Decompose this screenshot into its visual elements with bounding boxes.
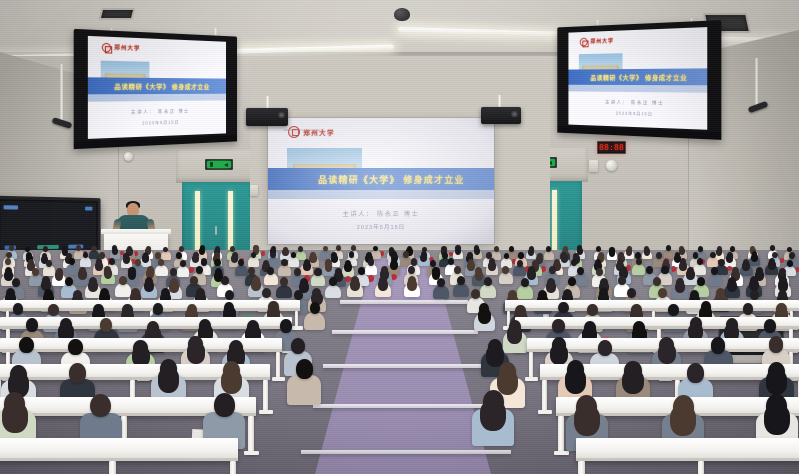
audience-member-hair: [550, 345, 568, 365]
audience-member-head: [668, 304, 679, 316]
audience-member-torso: [320, 250, 330, 259]
slide-presenter: 主讲人： 陈永正 博士: [88, 108, 226, 117]
audience-member-hair: [344, 263, 352, 272]
arrow-right-icon: [224, 163, 228, 167]
desk-front-edge: [0, 458, 238, 461]
projector-mount-left: [266, 96, 269, 108]
camera-pole-right: [755, 58, 758, 106]
audience-member-torso: [480, 284, 496, 298]
chair-back: [368, 275, 374, 282]
university-logo: 郑州大学: [580, 37, 614, 47]
monitor-pole-left: [60, 64, 63, 120]
audience-member-head: [69, 363, 86, 383]
aisle-step: [332, 330, 478, 334]
audience-member-hair: [644, 248, 650, 255]
audience-member-head: [577, 267, 584, 275]
desk-leg: [558, 416, 564, 454]
audience-member-hair: [78, 270, 87, 280]
audience-member-hair: [670, 406, 696, 436]
audience-member-head: [314, 268, 321, 276]
audience-member-hair: [4, 271, 13, 281]
podium-top-surface: [101, 229, 171, 234]
audience-member-head: [627, 288, 636, 298]
audience-member-torso: [177, 266, 190, 277]
projector-lens-icon: [278, 112, 285, 118]
audience-member-head: [750, 290, 759, 300]
audience-member-head: [214, 393, 235, 417]
audience-member-hair: [390, 261, 398, 270]
audience-member-hair: [475, 271, 484, 281]
desk-foot: [538, 410, 552, 414]
audience-member-hair: [626, 248, 632, 255]
audience-member-hair: [187, 343, 205, 363]
desk-foot: [554, 451, 569, 455]
audience-member-head: [135, 259, 141, 266]
slide-date: 2023年5月15日: [268, 223, 494, 231]
audience-member-hair: [727, 281, 737, 292]
desk-leg: [542, 380, 547, 413]
audience-member-head: [618, 276, 626, 285]
audience-member-head: [280, 319, 292, 333]
audience-member-head: [518, 252, 524, 258]
audience-member-head: [281, 259, 287, 266]
right-ceiling-monitor[interactable]: 郑州大学 品读精研《大学》 修身成才立业 主讲人： 陈永正 博士 2023年5月…: [557, 20, 721, 140]
audience-member-head: [403, 251, 409, 257]
audience-member-torso: [365, 264, 378, 275]
slide-title-band: 品读精研《大学》 修身成才立业: [568, 68, 707, 85]
audience-member-hair: [478, 309, 491, 324]
audience-member-hair: [751, 254, 758, 262]
audience-member-head: [155, 252, 161, 258]
audience-member-hair: [123, 256, 130, 264]
audience-member-head: [153, 303, 164, 315]
slide-accent-band: [568, 85, 707, 93]
audience-member-head: [291, 252, 297, 258]
desk-leg: [248, 416, 254, 454]
audience-member-torso: [311, 274, 325, 286]
audience-member-hair: [407, 280, 417, 291]
audience-member-torso: [276, 285, 292, 299]
audience-member-head: [170, 268, 177, 276]
audience-member-head: [368, 258, 374, 265]
audience-member-head: [710, 252, 716, 258]
audience-member-head: [267, 267, 274, 275]
audience-member-head: [587, 304, 598, 316]
audience-member-head: [598, 340, 612, 356]
audience-member-hair: [144, 281, 154, 292]
audience-member-head: [100, 318, 112, 332]
audience-member-head: [568, 277, 576, 286]
lecture-hall-photo: 88:88 郑州大学 ZHENGZHOU UNIVERSITY: [0, 0, 799, 474]
audience-member-head: [83, 252, 89, 258]
audience-member-hair: [686, 270, 695, 280]
audience-member-head: [6, 252, 12, 258]
audience-member-head: [214, 259, 220, 266]
audience-member-head: [457, 276, 465, 285]
audience-member-hair: [221, 370, 242, 394]
audience-member-hair: [480, 401, 506, 431]
university-logo: 郑州大学: [102, 43, 141, 54]
audience-member-head: [32, 268, 39, 276]
audience-member-head: [262, 288, 271, 298]
audience-member-head: [448, 258, 454, 265]
logo-text: 郑州大学: [114, 44, 140, 53]
audience-member-head: [310, 302, 321, 314]
audience-member-hair: [309, 255, 316, 263]
door-handle[interactable]: [215, 226, 217, 235]
left-monitor-screen: 郑州大学 品读精研《大学》 修身成才立业 主讲人： 陈永正 博士 2023年5月…: [88, 36, 226, 139]
audience-member-head: [65, 277, 73, 286]
audience-member-head: [764, 319, 776, 333]
audience-member-head: [789, 252, 795, 258]
desk-front-edge: [576, 458, 799, 461]
audience-member-torso: [693, 264, 706, 275]
audience-member-hair: [95, 262, 103, 271]
ceiling-projector-left: [246, 108, 288, 126]
audience-member-head: [502, 266, 509, 274]
audience-member-head: [294, 290, 303, 300]
desk-leg: [276, 352, 280, 380]
audience-member-torso: [632, 264, 645, 275]
audience-member-torso: [708, 274, 722, 286]
audience-member-hair: [561, 255, 568, 263]
air-vent-left: [99, 8, 136, 20]
desk-leg: [578, 461, 585, 474]
chair-back: [261, 251, 265, 256]
audience-member-head: [201, 258, 207, 265]
audience-member-head: [176, 252, 182, 258]
audience-member-hair: [658, 344, 676, 364]
audience-member-hair: [331, 255, 338, 263]
audience-member-torso: [155, 265, 168, 276]
audience-member-head: [552, 319, 564, 333]
chair-back: [671, 266, 676, 272]
audience-member-hair: [112, 248, 118, 255]
chair-back: [391, 274, 397, 281]
audience-member-hair: [158, 368, 179, 392]
audience-member-head: [298, 246, 303, 252]
audience-member-head: [656, 252, 662, 258]
audience-member-head: [558, 302, 569, 314]
audience-member-hair: [2, 403, 28, 433]
audience-member-torso: [304, 312, 325, 330]
audience-member-head: [270, 252, 276, 258]
clock-digits: 88:88: [599, 144, 624, 152]
audience-member-head: [408, 266, 415, 274]
slide-presenter: 主讲人： 陈永正 博士: [268, 209, 494, 218]
audience-member-hair: [474, 248, 480, 255]
audience-member-torso: [513, 265, 526, 276]
audience-member-head: [442, 252, 448, 258]
audience-member-hair: [325, 263, 333, 272]
aisle-step: [340, 300, 468, 304]
audience-member-torso: [325, 285, 341, 299]
audience-member-hair: [609, 249, 615, 256]
slide-title: 品读精研《大学》 修身成才立业: [114, 81, 226, 90]
audience-member-hair: [507, 326, 522, 343]
audience-member-torso: [517, 285, 533, 299]
ceiling-speaker-right: [606, 160, 617, 171]
left-ceiling-monitor[interactable]: 郑州大学 品读精研《大学》 修身成才立业 主讲人： 陈永正 博士 2023年5月…: [74, 29, 237, 149]
audience-member-torso: [235, 265, 248, 276]
audience-member-head: [19, 337, 33, 353]
audience-member-torso: [115, 283, 131, 297]
student-desk[interactable]: [505, 300, 799, 311]
desk-leg: [263, 380, 268, 413]
audience-member-head: [349, 251, 355, 257]
audience-member-head: [787, 260, 793, 267]
slide-title: 品读精研《大学》 修身成才立业: [590, 72, 707, 82]
audience-member-head: [521, 278, 529, 287]
audience-member-head: [697, 277, 705, 286]
audience-member-head: [291, 338, 305, 354]
audience-member-head: [280, 277, 288, 286]
audience-member-torso: [433, 285, 449, 299]
slide-accent-band: [88, 94, 226, 102]
audience-member-head: [119, 276, 127, 285]
audience-member-head: [658, 288, 667, 298]
desk-leg: [698, 461, 705, 474]
door-glass-panel-right: [552, 190, 557, 257]
audience-member-hair: [764, 405, 790, 435]
audience-member-head: [661, 266, 668, 274]
audience-member-hair: [282, 249, 288, 256]
audience-member-hair: [488, 262, 496, 271]
desk-leg: [230, 461, 237, 474]
wall-speaker-left: [124, 152, 133, 161]
audience-member-head: [296, 359, 313, 379]
audience-member-head: [26, 318, 38, 332]
audience-member-hair: [142, 254, 149, 262]
audience-member-head: [653, 277, 661, 286]
audience-member-torso: [66, 264, 79, 275]
audience-member-head: [196, 266, 203, 274]
desk-foot: [272, 377, 285, 381]
audience-member-head: [454, 266, 461, 274]
door-glass-panel-left: [195, 191, 200, 257]
smartboard-screen: [0, 201, 96, 255]
audience-member-head: [68, 339, 82, 355]
projector-lens-icon: [511, 111, 518, 117]
audience-member-hair: [565, 369, 586, 393]
desk-foot: [244, 451, 259, 455]
logo-text: 郑州大学: [590, 37, 614, 46]
audience-member-hair: [766, 370, 787, 394]
audience-member-head: [636, 258, 642, 265]
slide-accent-band: [268, 190, 494, 199]
audience-member-head: [411, 258, 417, 265]
audience-member-torso: [248, 257, 259, 267]
audience-member-head: [109, 258, 115, 265]
audience-member-head: [46, 260, 52, 267]
student-desk[interactable]: [0, 438, 238, 461]
right-monitor-screen: 郑州大学 品读精研《大学》 修身成才立业 主讲人： 陈永正 博士 2023年5月…: [568, 27, 707, 130]
audience-member-head: [743, 303, 754, 315]
audience-member-head: [718, 259, 724, 266]
mirrored-slide-right: 郑州大学 品读精研《大学》 修身成才立业 主讲人： 陈永正 博士 2023年5月…: [568, 27, 707, 130]
audience-member-head: [494, 246, 499, 252]
audience-member-head: [517, 260, 523, 267]
slide-title: 品读精研《大学》 修身成才立业: [318, 173, 494, 186]
audience-member-head: [596, 268, 603, 276]
audience-member-torso: [278, 265, 291, 276]
audience-member-torso: [287, 375, 322, 405]
mirrored-slide-left: 郑州大学 品读精研《大学》 修身成才立业 主讲人： 陈永正 博士 2023年5月…: [88, 36, 226, 139]
slide-date: 2023年5月15日: [88, 118, 226, 128]
audience-member-head: [769, 336, 783, 352]
audience-member-torso: [453, 283, 469, 297]
presentation-slide: 郑州大学 ZHENGZHOU UNIVERSITY 品读精研《大学》 修身成才立…: [268, 118, 494, 244]
seal-icon: [102, 43, 111, 53]
audience-member-hair: [303, 262, 311, 271]
audience-member-torso: [264, 273, 278, 285]
audience-member-head: [484, 277, 492, 286]
desk-leg: [109, 461, 116, 474]
aisle-step: [313, 404, 499, 408]
audience-member-head: [180, 260, 186, 267]
slide-title-band: 品读精研《大学》 修身成才立业: [268, 168, 494, 189]
audience-member-head: [221, 276, 229, 285]
audience-member-head: [12, 278, 20, 287]
led-clock-display: 88:88: [597, 141, 626, 154]
audience-member-head: [430, 260, 436, 267]
audience-member-head: [69, 258, 75, 265]
audience-member-hair: [768, 261, 776, 270]
audience-member-head: [179, 246, 184, 252]
audience-member-hair: [378, 280, 388, 291]
audience-member-hair: [546, 282, 556, 293]
wall-control-box-right[interactable]: [589, 160, 598, 172]
desk-foot: [525, 377, 538, 381]
desk-leg: [529, 352, 533, 380]
smartboard-ui-tile: [85, 207, 92, 211]
audience-member-hair: [622, 370, 643, 394]
running-man-icon: [210, 162, 213, 167]
audience-member-head: [91, 246, 96, 252]
audience-member-torso: [499, 272, 513, 284]
audience-member-torso: [80, 257, 91, 267]
desk-foot: [259, 410, 273, 414]
audience-member-head: [437, 278, 445, 287]
audience-member-head: [697, 258, 703, 265]
exit-sign-green-panel: [207, 161, 231, 168]
student-desk[interactable]: [0, 300, 300, 311]
audience-member-torso: [544, 251, 554, 260]
slide-date: 2023年5月15日: [568, 109, 707, 119]
ceiling-projector-right: [481, 107, 521, 124]
audience-member-hair: [574, 406, 600, 436]
chair-back: [189, 267, 194, 273]
logo-subtext: ZHENGZHOU UNIVERSITY: [284, 129, 325, 132]
audience-member-head: [48, 304, 59, 316]
audience-member-head: [711, 337, 725, 353]
wall-control-box-left[interactable]: [250, 185, 258, 196]
student-desk[interactable]: [576, 438, 799, 461]
audience-member-head: [294, 268, 301, 276]
audience-member-head: [351, 245, 356, 251]
audience-member-hair: [528, 249, 534, 256]
audience-member-head: [698, 246, 703, 252]
smartboard-ui-tile: [4, 205, 18, 209]
audience-member-hair: [527, 270, 536, 280]
exit-sign-left: [205, 159, 233, 170]
audience-member-head: [687, 363, 704, 383]
main-projection-screen[interactable]: 郑州大学 ZHENGZHOU UNIVERSITY 品读精研《大学》 修身成才立…: [268, 118, 494, 244]
audience-member-head: [43, 246, 48, 252]
audience-member-torso: [288, 257, 299, 267]
audience-member-head: [549, 266, 556, 274]
ceiling-camera-dome: [394, 8, 410, 21]
seal-icon: [580, 37, 588, 46]
slide-title-band: 品读精研《大学》 修身成才立业: [88, 77, 226, 95]
slide-presenter: 主讲人： 陈永正 博士: [568, 99, 707, 108]
projector-mount-right: [498, 95, 501, 107]
desk-foot: [291, 326, 303, 330]
audience-member-hair: [679, 262, 687, 271]
audience-member-head: [190, 276, 198, 285]
aisle-step: [323, 364, 488, 368]
aisle-step: [301, 450, 511, 454]
audience-member-torso: [664, 250, 674, 259]
audience-member-head: [336, 245, 341, 251]
